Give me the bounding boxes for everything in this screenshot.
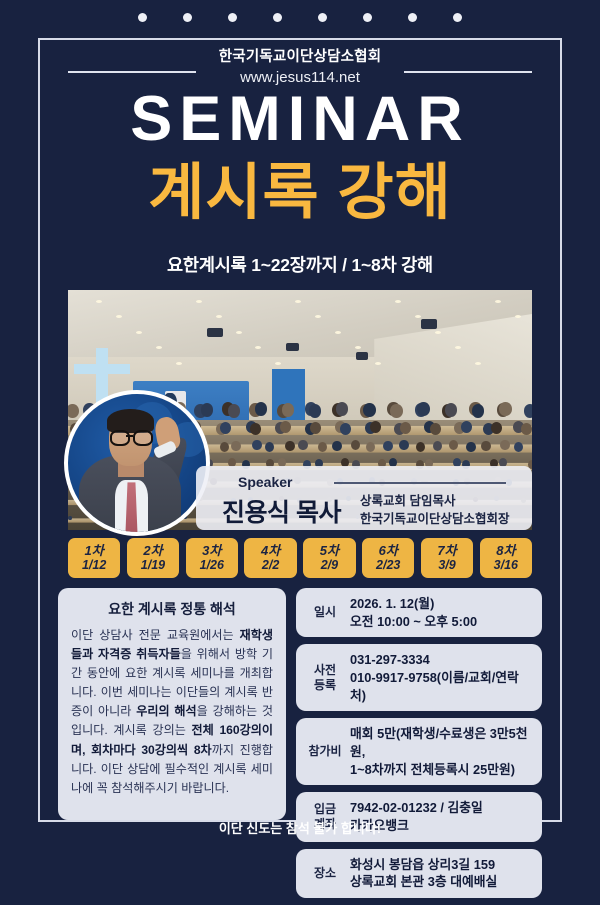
speaker-role: 상록교회 담임목사 한국기독교이단상담소협회장 — [360, 492, 510, 528]
photo-ceiling-light — [236, 331, 242, 334]
info-row: 장소화성시 봉담읍 상리3길 159상록교회 본관 3층 대예배실 — [296, 849, 542, 898]
description-body: 이단 상담사 전문 교육원에서는 재학생들과 자격증 취득자들을 위해서 방학 … — [71, 626, 273, 798]
speaker-label: Speaker — [238, 474, 292, 490]
session-date: 1/19 — [141, 558, 165, 572]
session-date: 2/2 — [262, 558, 279, 572]
info-row-value-line: 1~8차까지 전체등록시 25만원) — [350, 761, 534, 779]
portrait-hair — [107, 409, 154, 432]
info-row-key: 사전등록 — [304, 663, 346, 693]
info-row-value: 031-297-3334010-9917-9758(이름/교회/연락처) — [346, 651, 534, 704]
photo-ceiling-light — [335, 331, 341, 334]
speaker-role-line1: 상록교회 담임목사 — [360, 492, 510, 510]
session-number: 6차 — [379, 544, 398, 559]
photo-ceiling-light — [136, 331, 142, 334]
decorative-dot — [273, 13, 282, 22]
photo-audience-head — [340, 423, 351, 435]
info-row-key-line: 입금 — [304, 802, 346, 817]
photo-audience-head — [500, 440, 510, 450]
organization-name: 한국기독교이단상담소협회 — [0, 48, 600, 67]
session-badge[interactable]: 5차2/9 — [303, 538, 355, 578]
speaker-role-line2: 한국기독교이단상담소협회장 — [360, 510, 510, 528]
session-date: 3/16 — [494, 558, 518, 572]
session-badge-list: 1차1/122차1/193차1/264차2/25차2/96차2/237차3/98… — [68, 538, 532, 578]
description-panel: 요한 계시록 정통 해석 이단 상담사 전문 교육원에서는 재학생들과 자격증 … — [58, 588, 286, 820]
info-row-value-line: 오전 10:00 ~ 오후 5:00 — [350, 613, 534, 631]
info-row-value-line: 010-9917-9758(이름/교회/연락처) — [350, 669, 534, 704]
photo-audience-head — [449, 440, 459, 450]
session-number: 3차 — [202, 544, 221, 559]
decorative-dot — [408, 13, 417, 22]
info-row-value: 매회 5만(재학생/수료생은 3만5천원,1~8차까지 전체등록시 25만원) — [346, 725, 534, 778]
info-row-value-line: 031-297-3334 — [350, 651, 534, 669]
subtitle: 요한계시록 1~22장까지 / 1~8차 강해 — [0, 252, 600, 277]
speaker-portrait-avatar — [64, 390, 210, 536]
session-badge[interactable]: 1차1/12 — [68, 538, 120, 578]
info-row-value-line: 매회 5만(재학생/수료생은 3만5천원, — [350, 725, 534, 760]
session-number: 8차 — [496, 544, 515, 559]
photo-audience-head — [298, 440, 308, 450]
photo-audience-head — [481, 441, 491, 451]
portrait-glasses-bridge — [126, 435, 133, 437]
photo-ceiling-light — [395, 300, 401, 303]
photo-audience-head — [351, 440, 361, 450]
photo-ceiling-light — [295, 300, 301, 303]
top-dot-decoration — [0, 13, 600, 27]
photo-audience-head — [466, 442, 476, 452]
photo-ceiling-light — [435, 331, 441, 334]
info-row: 일시2026. 1. 12(월)오전 10:00 ~ 오후 5:00 — [296, 588, 542, 637]
decorative-dot — [363, 13, 372, 22]
photo-audience-head — [280, 421, 291, 433]
info-row-value: 화성시 봉담읍 상리3길 159상록교회 본관 3층 대예배실 — [346, 856, 534, 891]
photo-audience-head — [285, 441, 295, 451]
poster-root: 한국기독교이단상담소협회 www.jesus114.net SEMINAR 계시… — [0, 0, 600, 849]
photo-ceiling-light — [216, 315, 222, 318]
decorative-dot — [453, 13, 462, 22]
photo-audience-head — [390, 404, 403, 418]
session-badge[interactable]: 3차1/26 — [186, 538, 238, 578]
photo-audience-head — [521, 423, 532, 435]
speaker-divider — [334, 482, 506, 484]
photo-audience-head — [417, 402, 430, 416]
info-row-value-line: 화성시 봉담읍 상리3길 159 — [350, 856, 534, 874]
description-title: 요한 계시록 정통 해석 — [71, 599, 273, 619]
photo-audience-head — [220, 442, 230, 452]
session-number: 2차 — [143, 544, 162, 559]
session-number: 4차 — [261, 544, 280, 559]
decorative-dot — [318, 13, 327, 22]
info-table: 일시2026. 1. 12(월)오전 10:00 ~ 오후 5:00사전등록03… — [296, 588, 542, 905]
page-title: SEMINAR — [0, 88, 600, 151]
photo-audience-head — [250, 423, 261, 435]
photo-audience-head — [461, 421, 472, 433]
session-date: 1/26 — [200, 558, 224, 572]
photo-ceiling-light — [96, 300, 102, 303]
session-date: 2/23 — [376, 558, 400, 572]
photo-ceiling-light — [196, 300, 202, 303]
session-date: 1/12 — [82, 558, 106, 572]
korean-title: 계시록 강해 — [0, 160, 600, 226]
info-row-key: 장소 — [304, 866, 346, 881]
session-badge[interactable]: 6차2/23 — [362, 538, 414, 578]
photo-ceiling-light — [495, 300, 501, 303]
info-row-value-line: 2026. 1. 12(월) — [350, 595, 534, 613]
photo-audience-head — [332, 441, 342, 451]
photo-audience-head — [399, 440, 409, 450]
bottom-notice: 이단 신도는 참석 불가 합니다! — [0, 818, 600, 837]
photo-audience-head — [220, 422, 231, 434]
info-row: 참가비매회 5만(재학생/수료생은 3만5천원,1~8차까지 전체등록시 25만… — [296, 718, 542, 785]
session-badge[interactable]: 7차3/9 — [421, 538, 473, 578]
photo-audience-head — [383, 441, 393, 451]
photo-audience-head — [366, 442, 376, 452]
info-row-value-line: 7942-02-01232 / 김충일 — [350, 799, 534, 817]
description-text: 이단 상담사 전문 교육원에서는 — [71, 628, 240, 642]
decorative-dot — [138, 13, 147, 22]
portrait-glasses-right — [133, 430, 153, 446]
decorative-dot — [183, 13, 192, 22]
session-number: 7차 — [437, 544, 456, 559]
speaker-name: 진용식 목사 — [222, 493, 341, 529]
photo-audience-head — [231, 441, 241, 451]
decorative-dot — [228, 13, 237, 22]
session-badge[interactable]: 8차3/16 — [480, 538, 532, 578]
photo-audience-head — [524, 404, 532, 418]
session-badge[interactable]: 4차2/2 — [244, 538, 296, 578]
info-row-value-line: 상록교회 본관 3층 대예배실 — [350, 873, 534, 891]
info-row-key: 일시 — [304, 605, 346, 620]
photo-audience-head — [499, 402, 512, 416]
photo-ceiling-speaker — [207, 328, 223, 337]
header-block: 한국기독교이단상담소협회 www.jesus114.net — [0, 48, 600, 88]
photo-ceiling-speaker — [421, 319, 437, 329]
photo-ceiling-speaker — [286, 343, 299, 351]
photo-audience-head — [68, 516, 72, 520]
photo-ceiling-speaker — [356, 352, 368, 360]
photo-audience-head — [445, 403, 458, 417]
session-number: 5차 — [320, 544, 339, 559]
session-number: 1차 — [85, 544, 104, 559]
photo-audience-head — [370, 421, 381, 433]
portrait-glasses-left — [110, 430, 130, 446]
info-row-key-line: 등록 — [304, 678, 346, 693]
photo-ceiling-light — [475, 362, 481, 365]
session-date: 3/9 — [438, 558, 455, 572]
speaker-card: Speaker 진용식 목사 상록교회 담임목사 한국기독교이단상담소협회장 — [196, 466, 532, 530]
info-row-value: 2026. 1. 12(월)오전 10:00 ~ 오후 5:00 — [346, 595, 534, 630]
info-row-key: 참가비 — [304, 744, 346, 759]
info-row: 사전등록031-297-3334010-9917-9758(이름/교회/연락처) — [296, 644, 542, 711]
photo-audience-head — [363, 403, 376, 417]
photo-audience-head — [252, 440, 262, 450]
info-row-key-line: 사전 — [304, 663, 346, 678]
session-date: 2/9 — [321, 558, 338, 572]
photo-ceiling-light — [176, 362, 182, 365]
session-badge[interactable]: 2차1/19 — [127, 538, 179, 578]
photo-audience-head — [491, 422, 502, 434]
photo-audience-head — [310, 422, 321, 434]
description-emphasis: 우리의 해석 — [136, 704, 196, 718]
